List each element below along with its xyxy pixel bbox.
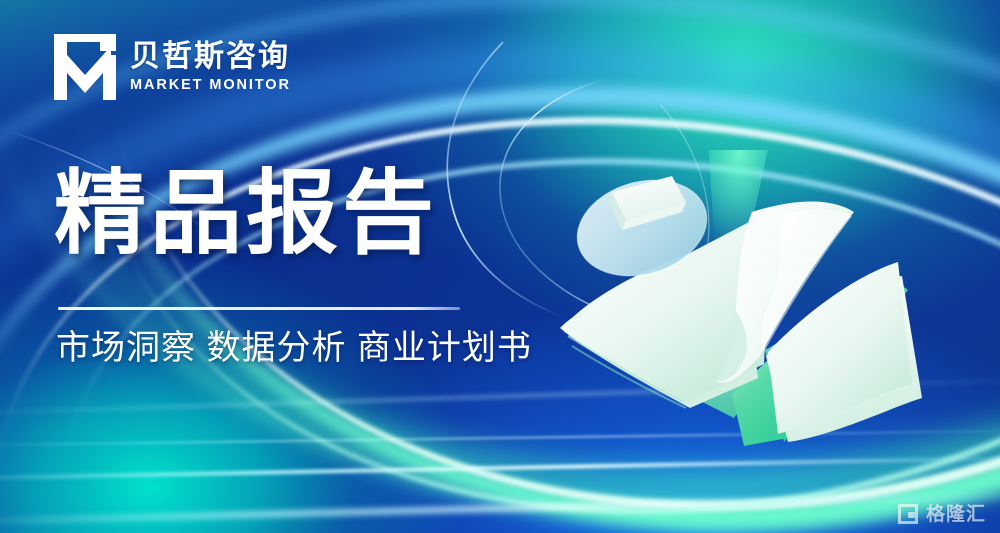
gelonghui-g-logo-icon	[897, 503, 919, 525]
page-title: 精品报告	[54, 168, 438, 260]
source-watermark: 格隆汇	[897, 503, 986, 525]
open-book-3d-illustration	[520, 150, 940, 450]
brand-name-cn: 贝哲斯咨询	[130, 40, 291, 74]
title-divider	[58, 307, 460, 310]
brand-text: 贝哲斯咨询 MARKET MONITOR	[130, 40, 291, 95]
brand-name-en: MARKET MONITOR	[130, 77, 291, 94]
page-subtitle: 市场洞察 数据分析 商业计划书	[56, 327, 532, 370]
watermark-text: 格隆汇	[926, 505, 986, 524]
market-monitor-m-logo-icon	[54, 34, 116, 100]
brand-logo: 贝哲斯咨询 MARKET MONITOR	[54, 34, 291, 100]
report-cover-banner: 贝哲斯咨询 MARKET MONITOR 精品报告 市场洞察 数据分析 商业计划…	[0, 0, 1000, 533]
